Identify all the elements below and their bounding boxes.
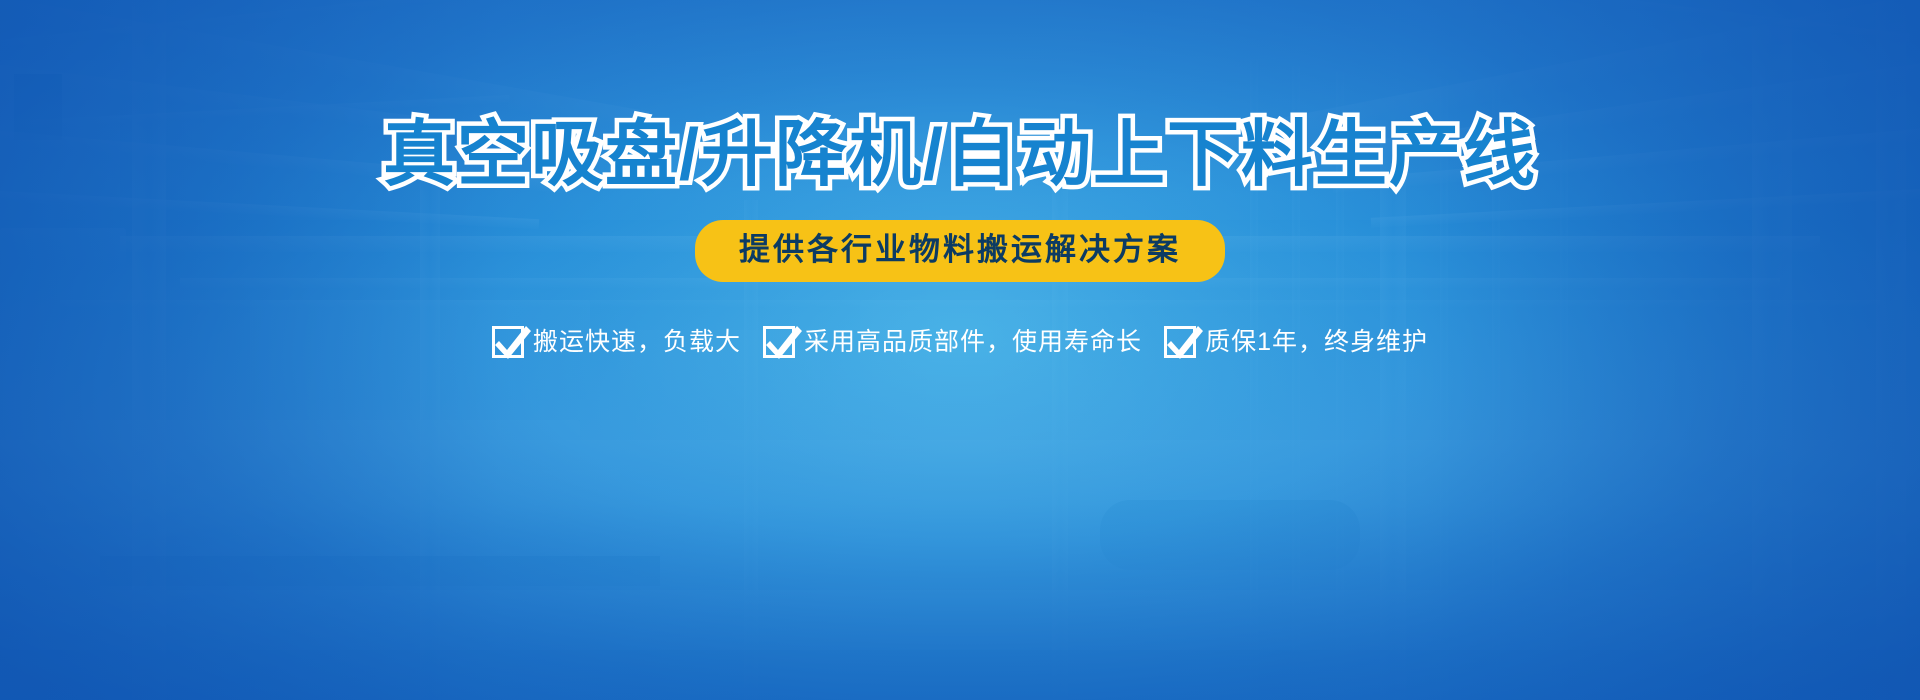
feature-label: 质保1年，终身维护: [1205, 330, 1428, 355]
banner-content: 真空吸盘/升降机/自动上下料生产线 提供各行业物料搬运解决方案 搬运快速，负载大…: [0, 0, 1920, 700]
feature-list: 搬运快速，负载大 采用高品质部件，使用寿命长 质保1年，终身维护: [492, 326, 1428, 358]
feature-item: 采用高品质部件，使用寿命长: [763, 326, 1142, 358]
banner-subtitle-pill: 提供各行业物料搬运解决方案: [695, 220, 1225, 283]
check-icon: [763, 326, 795, 358]
check-icon: [492, 326, 524, 358]
hero-banner: 真空吸盘/升降机/自动上下料生产线 提供各行业物料搬运解决方案 搬运快速，负载大…: [0, 0, 1920, 700]
banner-title: 真空吸盘/升降机/自动上下料生产线: [383, 118, 1537, 194]
check-icon: [1164, 326, 1196, 358]
feature-item: 搬运快速，负载大: [492, 326, 741, 358]
feature-label: 搬运快速，负载大: [533, 330, 741, 355]
feature-item: 质保1年，终身维护: [1164, 326, 1428, 358]
feature-label: 采用高品质部件，使用寿命长: [804, 330, 1142, 355]
